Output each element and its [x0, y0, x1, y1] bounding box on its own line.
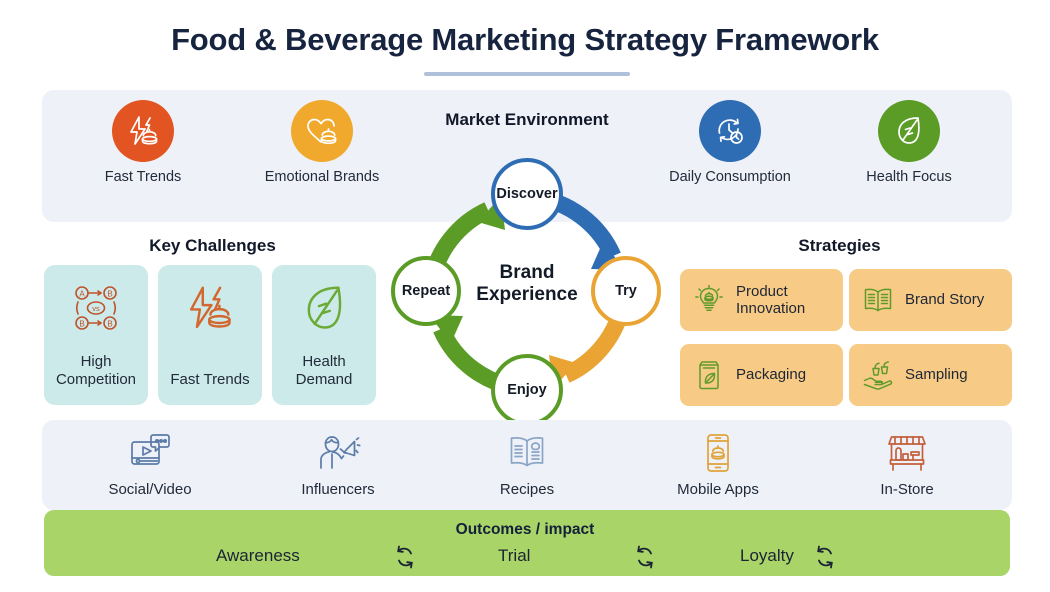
cycle-node-label: Repeat	[402, 283, 450, 299]
leaf-icon	[298, 279, 350, 337]
svg-text:B: B	[107, 319, 112, 328]
challenge-card-label: High Competition	[44, 353, 148, 389]
cycle-center-label: Brand Experience	[449, 262, 605, 306]
mobile-phone-food-icon	[638, 428, 798, 478]
video-chat-icon	[70, 428, 230, 478]
outcome-step-awareness: Awareness	[216, 546, 300, 566]
refresh-cycle-icon	[812, 544, 838, 575]
market-item-label: Fast Trends	[68, 169, 218, 186]
market-item-label: Emotional Brands	[247, 169, 397, 186]
cycle-node-label: Enjoy	[507, 382, 546, 398]
market-item-health-focus[interactable]: Health Focus	[834, 100, 984, 186]
refresh-cycle-icon	[632, 544, 658, 575]
channel-item-label: Social/Video	[70, 481, 230, 498]
strategy-card-label: Packaging	[736, 366, 806, 384]
challenge-card-fast-trends[interactable]: Fast Trends	[158, 265, 262, 405]
cycle-center-line1: Brand	[449, 262, 605, 284]
storefront-icon	[827, 428, 987, 478]
lightbulb-idea-icon	[691, 282, 727, 318]
brand-experience-cycle: Discover Try Enjoy Repeat Brand Experien…	[377, 142, 677, 442]
market-item-emotional-brands[interactable]: Emotional Brands	[247, 100, 397, 186]
channel-item-influencers[interactable]: Influencers	[258, 428, 418, 498]
svg-text:vs: vs	[92, 304, 100, 313]
channel-item-label: Recipes	[447, 481, 607, 498]
recipe-book-icon	[447, 428, 607, 478]
influencer-megaphone-icon	[258, 428, 418, 478]
channel-item-label: Influencers	[258, 481, 418, 498]
leaf-icon	[878, 100, 940, 162]
svg-text:B: B	[79, 319, 84, 328]
strategy-card-product-innovation[interactable]: Product Innovation	[680, 269, 843, 331]
market-item-label: Daily Consumption	[655, 169, 805, 186]
outcomes-heading: Outcomes / impact	[0, 521, 1050, 539]
outcomes-bar	[44, 510, 1010, 576]
cycle-node-enjoy[interactable]: Enjoy	[491, 354, 563, 426]
cycle-node-label: Discover	[496, 186, 557, 202]
clock-cycle-icon	[699, 100, 761, 162]
svg-text:B: B	[107, 289, 112, 298]
key-challenges-heading: Key Challenges	[45, 236, 380, 256]
strategy-card-label: Sampling	[905, 366, 968, 384]
infographic-canvas: Food & Beverage Marketing Strategy Frame…	[0, 0, 1050, 592]
svg-text:A: A	[79, 289, 85, 298]
challenge-card-high-competition[interactable]: A B B B vs High Competition	[44, 265, 148, 405]
challenge-card-label: Health Demand	[272, 353, 376, 389]
cycle-node-label: Try	[615, 283, 637, 299]
strategy-card-sampling[interactable]: Sampling	[849, 344, 1012, 406]
channel-item-label: In-Store	[827, 481, 987, 498]
competition-vs-icon: A B B B vs	[70, 279, 122, 337]
strategy-card-brand-story[interactable]: Brand Story	[849, 269, 1012, 331]
channel-item-label: Mobile Apps	[638, 481, 798, 498]
channel-item-recipes[interactable]: Recipes	[447, 428, 607, 498]
channel-item-in-store[interactable]: In-Store	[827, 428, 987, 498]
channel-item-social-video[interactable]: Social/Video	[70, 428, 230, 498]
market-item-daily-consumption[interactable]: Daily Consumption	[655, 100, 805, 186]
outcome-step-trial: Trial	[498, 546, 530, 566]
refresh-cycle-icon	[392, 544, 418, 575]
page-title: Food & Beverage Marketing Strategy Frame…	[0, 22, 1050, 58]
channel-item-mobile-apps[interactable]: Mobile Apps	[638, 428, 798, 498]
market-item-label: Health Focus	[834, 169, 984, 186]
strategy-card-label: Brand Story	[905, 291, 984, 309]
lightning-burger-icon	[184, 279, 236, 337]
cycle-center-line2: Experience	[449, 284, 605, 306]
strategies-heading: Strategies	[672, 236, 1007, 256]
hand-sampling-icon	[860, 357, 896, 393]
title-underline	[424, 72, 630, 76]
heart-burger-icon	[291, 100, 353, 162]
open-book-icon	[860, 282, 896, 318]
challenge-card-label: Fast Trends	[170, 371, 249, 389]
strategy-card-label: Product Innovation	[736, 283, 843, 318]
challenge-card-health-demand[interactable]: Health Demand	[272, 265, 376, 405]
lightning-burger-icon	[112, 100, 174, 162]
cycle-node-discover[interactable]: Discover	[491, 158, 563, 230]
outcome-step-loyalty: Loyalty	[740, 546, 794, 566]
market-environment-heading: Market Environment	[377, 110, 677, 130]
market-item-fast-trends[interactable]: Fast Trends	[68, 100, 218, 186]
package-bag-icon	[691, 357, 727, 393]
strategy-card-packaging[interactable]: Packaging	[680, 344, 843, 406]
